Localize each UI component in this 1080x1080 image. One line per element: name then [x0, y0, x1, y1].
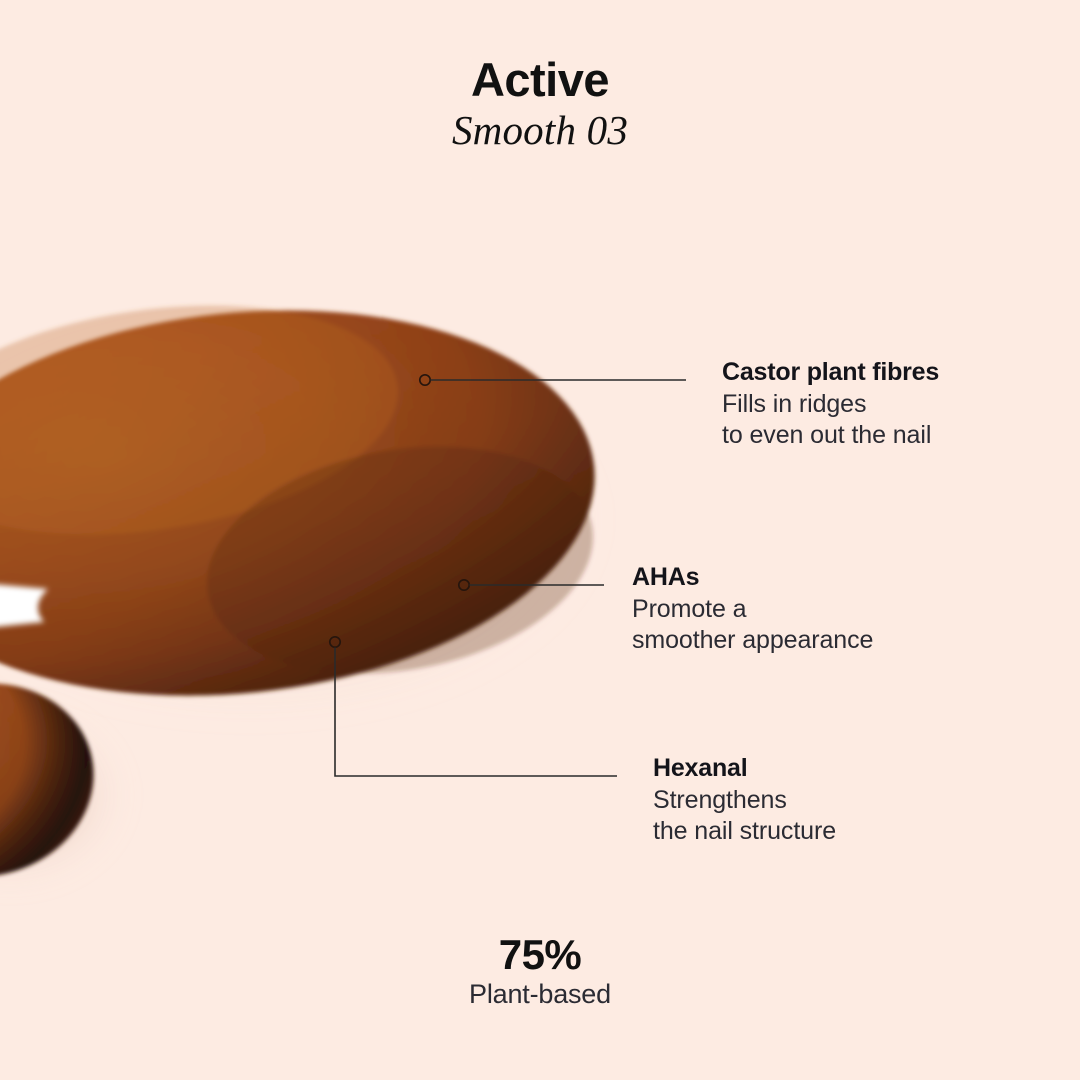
annotation-line-1: Strengthens [653, 785, 836, 816]
product-ingredient-infographic: Active Smooth 03 Castor plant fibres Fil… [0, 0, 1080, 1080]
page-title: Active [0, 56, 1080, 105]
header: Active Smooth 03 [0, 56, 1080, 155]
leader-line-castor [420, 375, 686, 385]
annotation-line-2: the nail structure [653, 816, 836, 847]
annotation-title: Castor plant fibres [722, 357, 939, 389]
annotation-title: AHAs [632, 562, 873, 594]
annotation-ahas: AHAs Promote a smoother appearance [632, 562, 873, 656]
leader-line-hexanal [330, 637, 617, 776]
annotation-castor-plant-fibres: Castor plant fibres Fills in ridges to e… [722, 357, 939, 451]
specular-highlight [0, 582, 48, 630]
nail-polish-drop-large [0, 276, 614, 729]
annotation-line-1: Promote a [632, 594, 873, 625]
artwork-layer [0, 0, 1080, 1080]
page-subtitle: Smooth 03 [0, 105, 1080, 155]
annotation-line-2: to even out the nail [722, 420, 939, 451]
annotation-line-1: Fills in ridges [722, 389, 939, 420]
large-drop-shadow [0, 315, 610, 725]
annotation-title: Hexanal [653, 753, 836, 785]
annotation-line-2: smoother appearance [632, 625, 873, 656]
claim-label: Plant-based [0, 977, 1080, 1012]
small-drop-shadow [0, 699, 130, 891]
annotation-hexanal: Hexanal Strengthens the nail structure [653, 753, 836, 847]
nail-polish-drop-small [0, 663, 112, 897]
leader-line-ahas [459, 580, 604, 590]
claim-percentage: 75% [0, 932, 1080, 977]
plant-based-claim: 75% Plant-based [0, 932, 1080, 1012]
